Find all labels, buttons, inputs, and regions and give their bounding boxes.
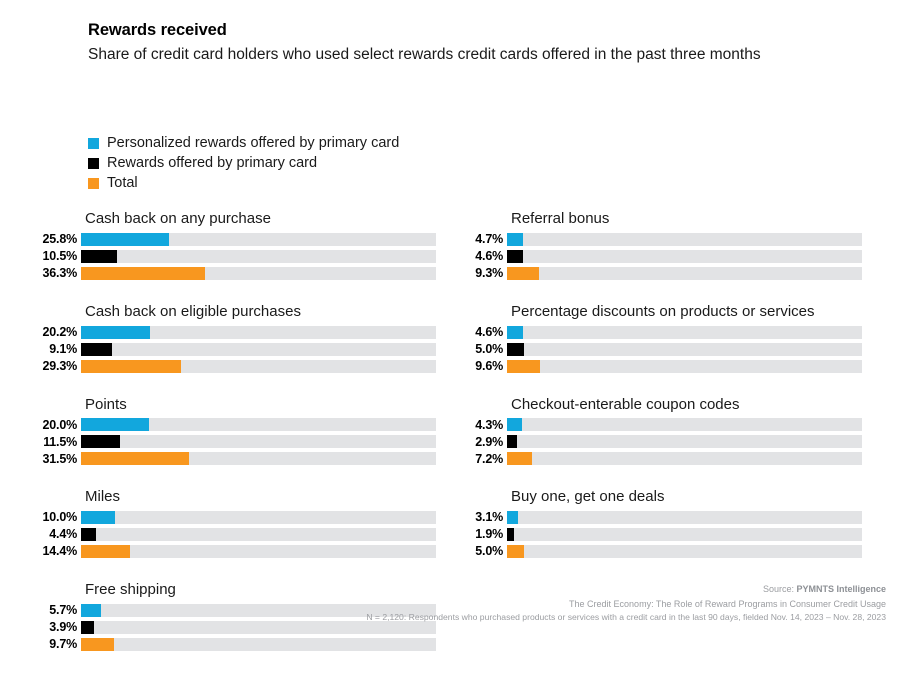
bar-value-label: 7.2% (462, 453, 507, 466)
bar-value-label: 20.2% (36, 326, 81, 339)
bar-fill (507, 267, 539, 280)
bar-fill (507, 360, 540, 373)
bar-fill (81, 233, 169, 246)
bar-fill (507, 528, 514, 541)
bar-value-label: 9.6% (462, 360, 507, 373)
bar-row: 5.0% (462, 343, 862, 356)
page-title: Rewards received (88, 20, 878, 41)
chart-legend: Personalized rewards offered by primary … (88, 134, 399, 194)
bar-fill (81, 360, 181, 373)
bar-row: 5.0% (462, 545, 862, 558)
bar-row: 25.8% (36, 233, 436, 246)
bar-value-label: 4.7% (462, 233, 507, 246)
bar-fill (81, 250, 117, 263)
bar-value-label: 4.3% (462, 419, 507, 432)
bar-row: 10.0% (36, 511, 436, 524)
bar-fill (507, 326, 523, 339)
legend-swatch-icon (88, 138, 99, 149)
bar-row: 31.5% (36, 452, 436, 465)
bar-fill (507, 418, 522, 431)
legend-item-label: Rewards offered by primary card (107, 156, 317, 171)
bar-value-label: 31.5% (36, 453, 81, 466)
chart-header: Rewards received Share of credit card ho… (88, 20, 878, 66)
bar-fill (81, 435, 120, 448)
bar-group-title: Buy one, get one deals (462, 488, 862, 507)
bar-track (81, 418, 436, 431)
bar-row: 4.6% (462, 326, 862, 339)
legend-item[interactable]: Rewards offered by primary card (88, 154, 399, 173)
bar-value-label: 36.3% (36, 267, 81, 280)
bar-row: 2.9% (462, 435, 862, 448)
bar-fill (81, 511, 115, 524)
bar-row: 9.1% (36, 343, 436, 356)
bar-row: 14.4% (36, 545, 436, 558)
bar-group: Percentage discounts on products or serv… (462, 303, 862, 373)
bar-group-title: Miles (36, 488, 436, 507)
bar-group: Referral bonus4.7%4.6%9.3% (462, 210, 862, 280)
bar-fill (507, 233, 523, 246)
bar-track (507, 452, 862, 465)
footer-source-label: Source: (763, 584, 797, 594)
bar-track (81, 343, 436, 356)
bar-fill (507, 250, 523, 263)
bar-row: 10.5% (36, 250, 436, 263)
bar-fill (81, 545, 130, 558)
bar-row: 9.3% (462, 267, 862, 280)
bar-row: 4.4% (36, 528, 436, 541)
bar-row: 7.2% (462, 452, 862, 465)
legend-swatch-icon (88, 158, 99, 169)
bar-fill (81, 528, 96, 541)
bar-value-label: 29.3% (36, 360, 81, 373)
chart-footer: Source: PYMNTS Intelligence The Credit E… (0, 582, 886, 625)
legend-item[interactable]: Personalized rewards offered by primary … (88, 134, 399, 153)
bar-group: Checkout-enterable coupon codes4.3%2.9%7… (462, 396, 862, 466)
bar-fill (507, 452, 532, 465)
footer-source-name: PYMNTS Intelligence (796, 584, 886, 594)
footer-report-line: The Credit Economy: The Role of Reward P… (0, 597, 886, 612)
bar-value-label: 10.0% (36, 511, 81, 524)
bar-fill (507, 343, 524, 356)
bar-fill (81, 267, 205, 280)
legend-item[interactable]: Total (88, 174, 399, 193)
bar-fill (507, 435, 517, 448)
bar-track (81, 360, 436, 373)
bar-value-label: 5.0% (462, 545, 507, 558)
bar-value-label: 10.5% (36, 250, 81, 263)
bar-value-label: 9.7% (36, 638, 81, 651)
bar-track (81, 545, 436, 558)
bar-track (81, 267, 436, 280)
bar-track (81, 452, 436, 465)
bar-group: Cash back on eligible purchases20.2%9.1%… (36, 303, 436, 373)
bar-row: 11.5% (36, 435, 436, 448)
bar-track (507, 511, 862, 524)
chart-subtitle: Share of credit card holders who used se… (88, 44, 848, 66)
bar-value-label: 4.4% (36, 528, 81, 541)
bar-fill (81, 638, 114, 651)
bar-track (507, 267, 862, 280)
bar-row: 29.3% (36, 360, 436, 373)
bar-row: 1.9% (462, 528, 862, 541)
bar-group-title: Cash back on eligible purchases (36, 303, 436, 322)
bar-row: 20.2% (36, 326, 436, 339)
bar-row: 20.0% (36, 418, 436, 431)
bar-track (507, 418, 862, 431)
bar-value-label: 3.1% (462, 511, 507, 524)
bar-value-label: 4.6% (462, 326, 507, 339)
bar-track (81, 528, 436, 541)
legend-item-label: Personalized rewards offered by primary … (107, 136, 399, 151)
bar-fill (507, 511, 518, 524)
bar-track (507, 326, 862, 339)
bar-track (81, 435, 436, 448)
bar-fill (81, 326, 150, 339)
bar-row: 36.3% (36, 267, 436, 280)
bar-track (507, 250, 862, 263)
bar-value-label: 20.0% (36, 419, 81, 432)
footer-note-line: N = 2,120: Respondents who purchased pro… (0, 611, 886, 625)
bar-row: 9.6% (462, 360, 862, 373)
bar-row: 9.7% (36, 638, 436, 651)
chart-column-right: Referral bonus4.7%4.6%9.3%Percentage dis… (462, 210, 862, 581)
bar-fill (81, 343, 112, 356)
bar-group-title: Percentage discounts on products or serv… (462, 303, 862, 322)
bar-group-title: Checkout-enterable coupon codes (462, 396, 862, 415)
bar-fill (81, 452, 189, 465)
bar-value-label: 14.4% (36, 545, 81, 558)
bar-track (81, 250, 436, 263)
bar-value-label: 5.0% (462, 343, 507, 356)
bar-track (81, 638, 436, 651)
bar-fill (81, 418, 149, 431)
bar-group: Cash back on any purchase25.8%10.5%36.3% (36, 210, 436, 280)
bar-value-label: 1.9% (462, 528, 507, 541)
bar-group: Miles10.0%4.4%14.4% (36, 488, 436, 558)
legend-item-label: Total (107, 176, 138, 191)
bar-fill (507, 545, 524, 558)
bar-track (507, 233, 862, 246)
bar-track (507, 343, 862, 356)
footer-source-line: Source: PYMNTS Intelligence (0, 582, 886, 597)
bar-track (507, 545, 862, 558)
bar-track (507, 528, 862, 541)
chart-page: Rewards received Share of credit card ho… (0, 0, 922, 668)
bar-track (507, 360, 862, 373)
bar-group: Buy one, get one deals3.1%1.9%5.0% (462, 488, 862, 558)
bar-value-label: 2.9% (462, 436, 507, 449)
bar-track (81, 511, 436, 524)
bar-value-label: 9.1% (36, 343, 81, 356)
bar-track (507, 435, 862, 448)
legend-swatch-icon (88, 178, 99, 189)
bar-row: 4.6% (462, 250, 862, 263)
bar-group-title: Referral bonus (462, 210, 862, 229)
bar-group-title: Points (36, 396, 436, 415)
bar-track (81, 326, 436, 339)
bar-value-label: 9.3% (462, 267, 507, 280)
bar-group: Points20.0%11.5%31.5% (36, 396, 436, 466)
bar-row: 4.3% (462, 418, 862, 431)
bar-row: 3.1% (462, 511, 862, 524)
bar-group-title: Cash back on any purchase (36, 210, 436, 229)
bar-track (81, 233, 436, 246)
bar-value-label: 25.8% (36, 233, 81, 246)
bar-value-label: 4.6% (462, 250, 507, 263)
bar-row: 4.7% (462, 233, 862, 246)
bar-value-label: 11.5% (36, 436, 81, 449)
